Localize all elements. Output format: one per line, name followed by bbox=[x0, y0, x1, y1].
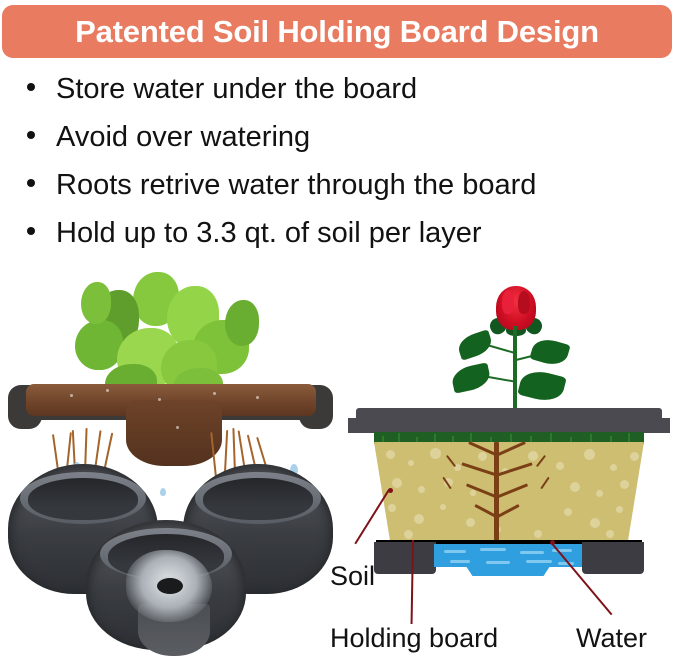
header-banner: Patented Soil Holding Board Design bbox=[2, 5, 672, 58]
rose-leaf bbox=[529, 336, 570, 369]
cross-section-diagram bbox=[340, 268, 679, 665]
pot-foot-right bbox=[582, 542, 644, 574]
feature-text: Store water under the board bbox=[56, 68, 417, 110]
bullet-icon bbox=[27, 83, 35, 91]
callout-label-water: Water bbox=[576, 623, 647, 654]
leaf-stalk bbox=[486, 344, 515, 354]
soil-speck bbox=[256, 396, 259, 399]
bullet-icon bbox=[27, 179, 35, 187]
planter-cavity-right bbox=[203, 478, 313, 520]
callout-label-soil: Soil bbox=[330, 561, 375, 592]
three-lobe-planter bbox=[8, 454, 333, 659]
water-reservoir bbox=[434, 544, 582, 576]
rose-petal bbox=[518, 291, 530, 314]
pot-foot-left bbox=[374, 542, 436, 574]
soil-speck bbox=[106, 389, 109, 392]
bullet-icon bbox=[27, 227, 35, 235]
rose-plant-icon bbox=[450, 286, 580, 416]
pot-cross-section bbox=[348, 408, 670, 568]
rose-leaf bbox=[517, 367, 566, 405]
page-title: Patented Soil Holding Board Design bbox=[75, 16, 599, 47]
feature-list: Store water under the board Avoid over w… bbox=[0, 66, 679, 258]
rose-petal bbox=[502, 290, 514, 314]
figures-area: Soil Holding board Water bbox=[0, 268, 679, 665]
holding-board-leader-line bbox=[411, 540, 414, 624]
rose-leaf bbox=[450, 362, 492, 393]
product-photo bbox=[0, 268, 340, 665]
planter-cavity-left bbox=[28, 478, 138, 520]
list-item: Store water under the board bbox=[0, 66, 679, 114]
list-item: Hold up to 3.3 qt. of soil per layer bbox=[0, 210, 679, 258]
list-item: Roots retrive water through the board bbox=[0, 162, 679, 210]
feature-text: Hold up to 3.3 qt. of soil per layer bbox=[56, 212, 482, 254]
bullet-icon bbox=[27, 131, 35, 139]
soil-speck bbox=[213, 392, 216, 395]
soil-speck bbox=[158, 398, 161, 401]
rose-leaf bbox=[455, 329, 494, 360]
feature-text: Avoid over watering bbox=[56, 116, 310, 158]
callout-label-holding-board: Holding board bbox=[330, 623, 498, 654]
soil-speck bbox=[70, 394, 73, 397]
drain-hole-icon bbox=[157, 578, 183, 594]
list-item: Avoid over watering bbox=[0, 114, 679, 162]
pot-rim bbox=[356, 408, 662, 433]
feature-text: Roots retrive water through the board bbox=[56, 164, 536, 206]
